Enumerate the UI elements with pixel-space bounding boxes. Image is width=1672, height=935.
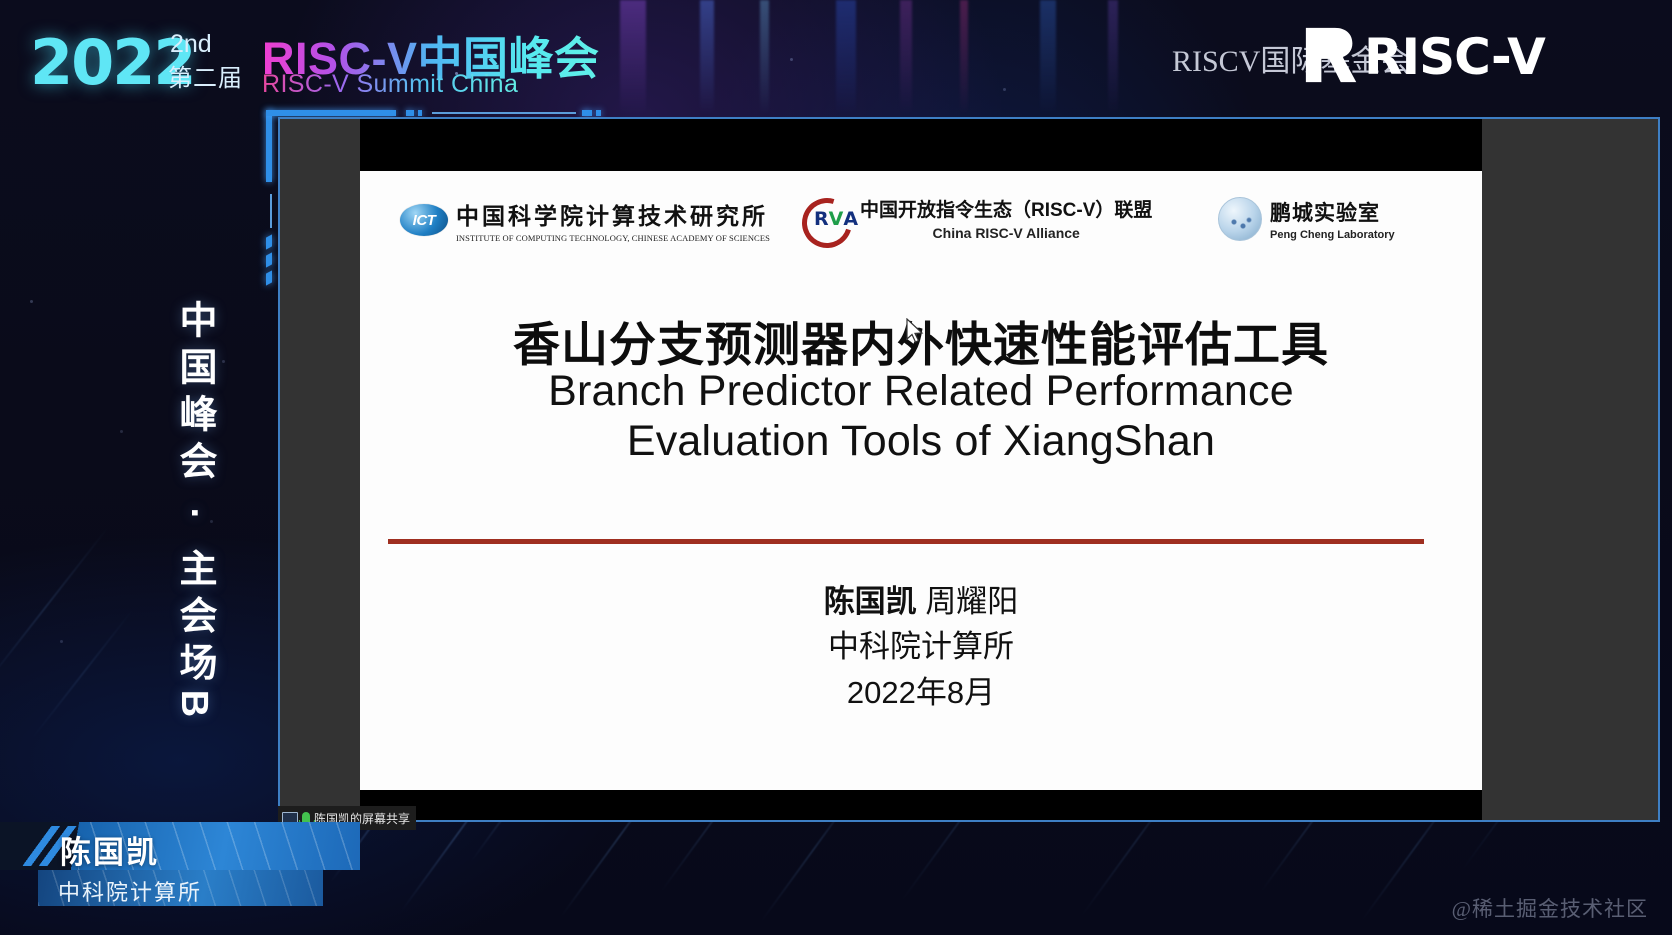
logo-ict-cn: 中国科学院计算技术研究所 [456,197,770,231]
slide-title-english-line1: Branch Predictor Related Performance [360,367,1482,416]
riscv-wordmark: RISC-V [1364,28,1545,86]
ict-mark-icon [400,204,448,236]
slide-letterbox-top [360,119,1482,171]
logo-rva-en: China RISC-V Alliance [860,225,1152,241]
logo-pcl-cn: 鹏城实验室 [1270,197,1395,227]
mouse-cursor-icon [905,318,925,344]
logo-peng-cheng-lab: 鹏城实验室 Peng Cheng Laboratory [1218,197,1395,241]
logo-ict-en: INSTITUTE OF COMPUTING TECHNOLOGY, CHINE… [456,233,770,243]
speaker-name: 陈国凯 [60,827,159,872]
author-secondary: 周耀阳 [925,584,1018,619]
pcl-mark-icon [1218,197,1262,241]
rva-mark-icon: RVA [800,196,856,240]
slide-divider-rule [388,539,1424,544]
watermark: @稀土掘金技术社区 [1452,893,1648,923]
logo-rva-cn: 中国开放指令生态（RISC-V）联盟 [860,195,1152,222]
slide-affiliation: 中科院计算所 [360,621,1482,666]
presentation-slide[interactable]: 中国科学院计算技术研究所 INSTITUTE OF COMPUTING TECH… [360,171,1482,790]
session-vertical-title: 中国峰会 · 主会场B [170,300,222,726]
slide-letterbox-bottom [360,790,1482,820]
lower-third-banner: 陈国凯 中科院计算所 [0,822,360,935]
slide-date: 2022年8月 [360,667,1482,712]
event-header: 2022 2nd 第二届 RISC-V中国峰会 RISC-V Summit Ch… [0,0,1672,118]
riscv-logo: RISC-V [1302,22,1652,88]
logo-ict: 中国科学院计算技术研究所 INSTITUTE OF COMPUTING TECH… [400,197,770,243]
speaker-affiliation: 中科院计算所 [58,875,202,907]
slide-authors: 陈国凯 周耀阳 [360,576,1482,621]
slide-title-english-line2: Evaluation Tools of XiangShan [360,417,1482,466]
logo-china-riscv-alliance: RVA 中国开放指令生态（RISC-V）联盟 China RISC-V Alli… [800,195,1152,241]
event-ordinal-chinese: 第二届 [168,58,243,93]
riscv-mark-icon [1302,24,1364,86]
event-ordinal-english: 2nd [170,30,212,59]
event-brand-english: RISC-V Summit China [262,70,518,99]
author-primary: 陈国凯 [824,584,917,619]
slide-logo-row: 中国科学院计算技术研究所 INSTITUTE OF COMPUTING TECH… [360,185,1482,255]
logo-pcl-en: Peng Cheng Laboratory [1270,229,1395,241]
